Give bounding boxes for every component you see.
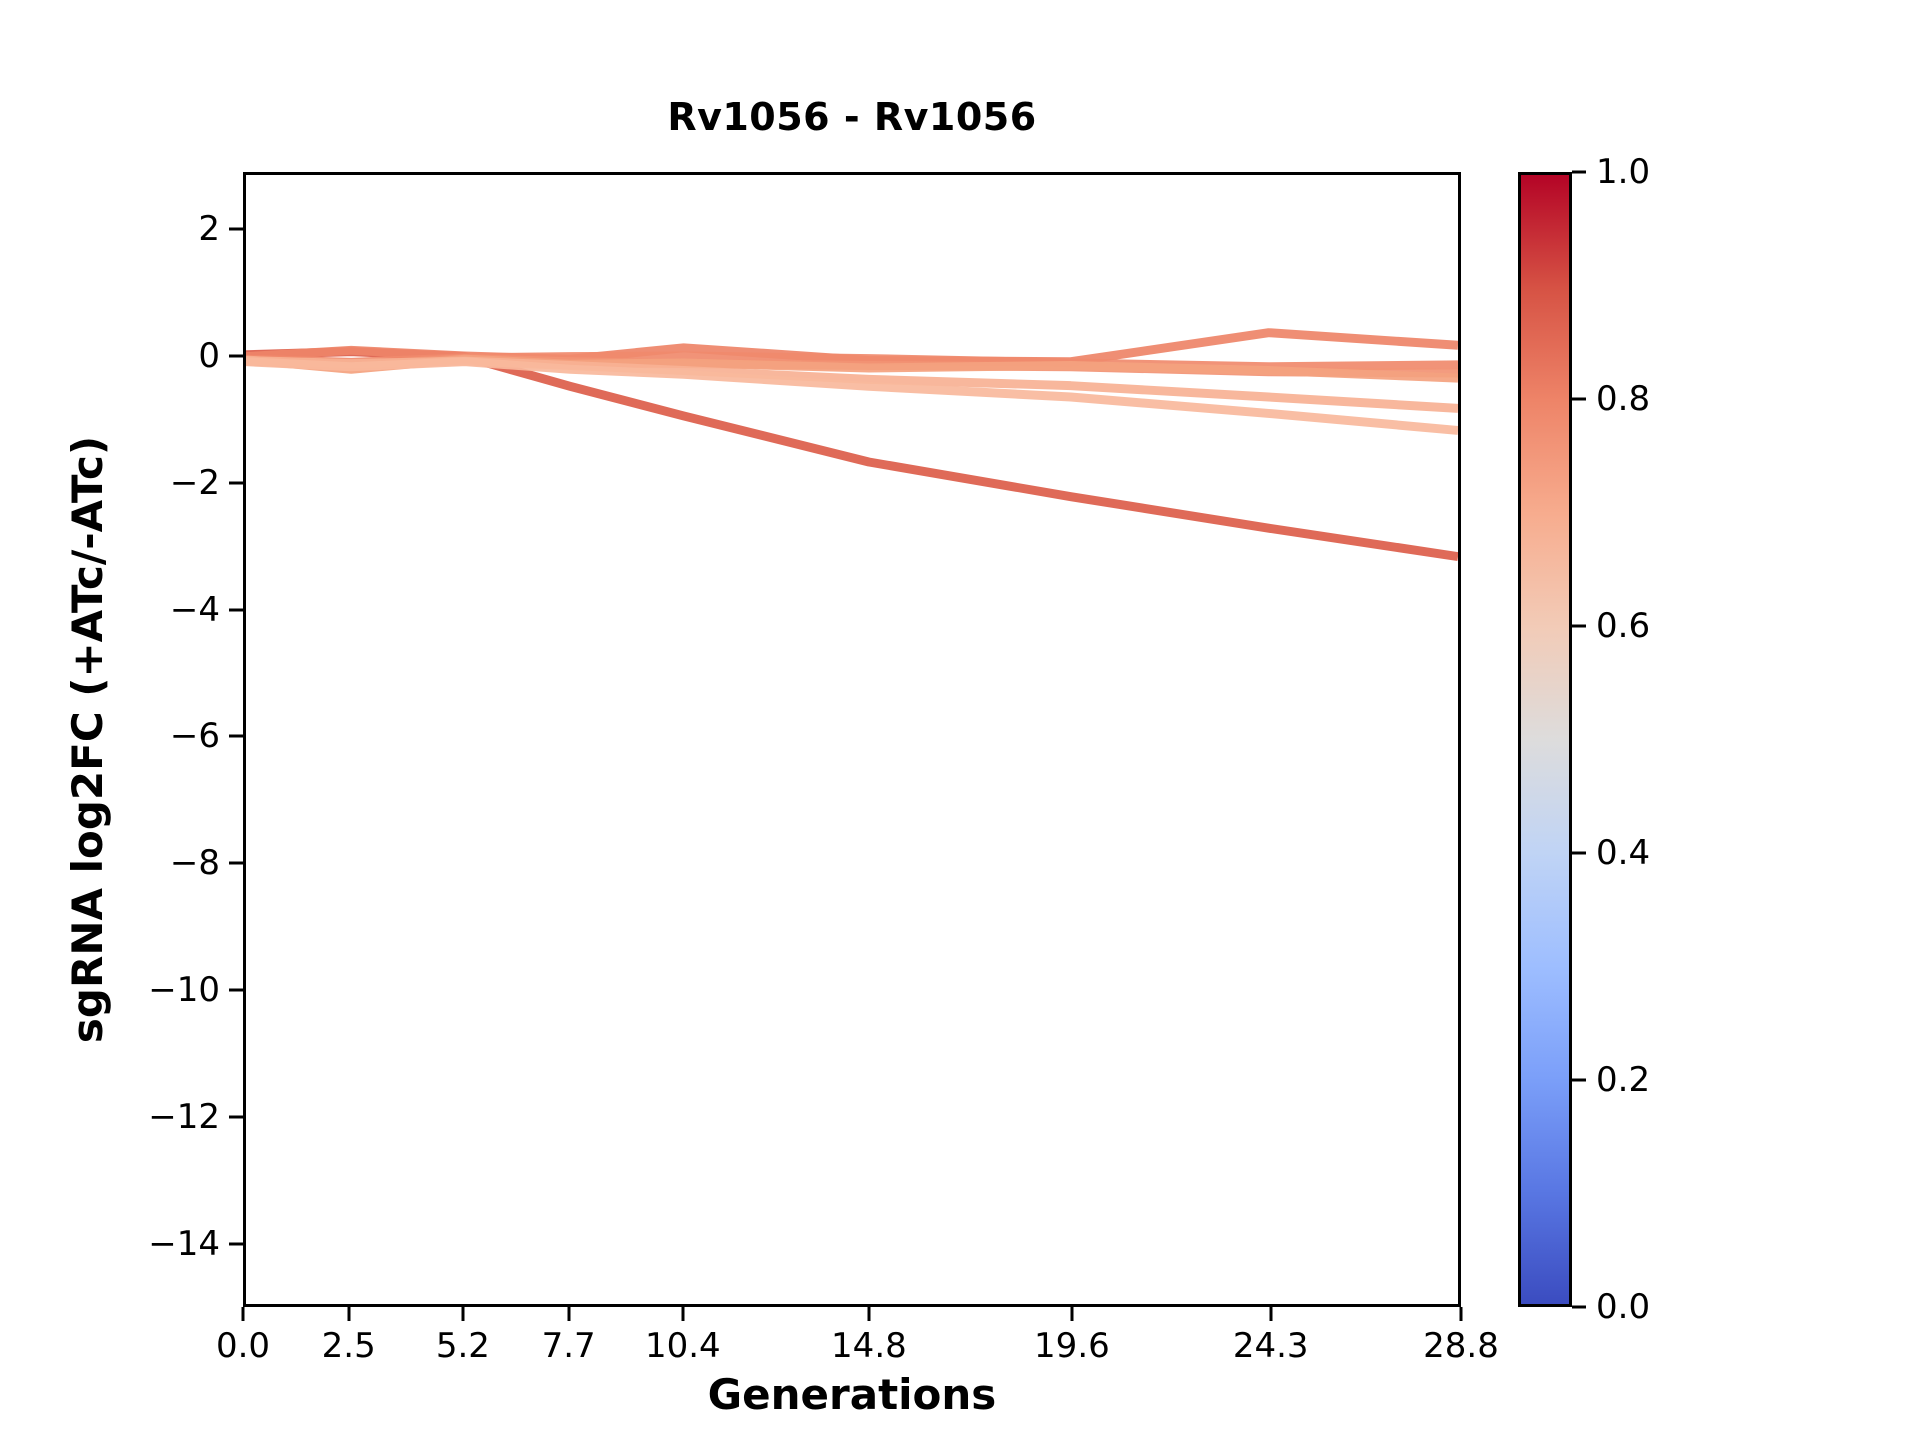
colorbar-tick-label: 0.2	[1596, 1060, 1650, 1100]
x-tick-mark	[681, 1307, 684, 1321]
x-tick-mark	[1460, 1307, 1463, 1321]
colorbar-tick-label: 1.0	[1596, 152, 1650, 192]
y-tick-label: −14	[148, 1224, 220, 1264]
chart-title: Rv1056 - Rv1056	[243, 95, 1461, 139]
y-tick-label: −2	[170, 463, 220, 503]
colorbar[interactable]	[1518, 172, 1572, 1307]
colorbar-tick-mark	[1572, 852, 1586, 855]
x-tick-label: 2.5	[322, 1326, 376, 1366]
x-tick-mark	[567, 1307, 570, 1321]
colorbar-tick-label: 0.4	[1596, 833, 1650, 873]
x-tick-label: 10.4	[645, 1326, 721, 1366]
x-tick-label: 7.7	[542, 1326, 596, 1366]
colorbar-tick-mark	[1572, 625, 1586, 628]
y-tick-mark	[229, 354, 243, 357]
y-tick-label: 2	[198, 209, 220, 249]
colorbar-tick-label: 0.6	[1596, 606, 1650, 646]
y-tick-label: −8	[170, 843, 220, 883]
y-tick-label: −12	[148, 1097, 220, 1137]
x-tick-mark	[242, 1307, 245, 1321]
y-tick-mark	[229, 862, 243, 865]
x-tick-mark	[461, 1307, 464, 1321]
y-tick-label: −4	[170, 590, 220, 630]
x-axis-title: Generations	[243, 1370, 1461, 1419]
y-tick-mark	[229, 1115, 243, 1118]
y-tick-mark	[229, 1242, 243, 1245]
figure-canvas: Rv1056 - Rv1056 sgRNA log2FC (+ATc/-ATc)…	[0, 0, 1920, 1440]
x-tick-label: 5.2	[436, 1326, 490, 1366]
y-axis-tick-labels: 20−2−4−6−8−10−12−14	[100, 0, 220, 1440]
y-tick-label: 0	[198, 336, 220, 376]
y-tick-label: −6	[170, 716, 220, 756]
x-tick-mark	[867, 1307, 870, 1321]
x-tick-label: 0.0	[216, 1326, 270, 1366]
x-tick-mark	[1070, 1307, 1073, 1321]
y-tick-mark	[229, 481, 243, 484]
plot-area	[243, 172, 1461, 1307]
x-tick-label: 28.8	[1423, 1326, 1499, 1366]
x-tick-mark	[347, 1307, 350, 1321]
colorbar-tick-mark	[1572, 398, 1586, 401]
y-tick-mark	[229, 735, 243, 738]
y-tick-mark	[229, 988, 243, 991]
colorbar-tick-mark	[1572, 1079, 1586, 1082]
line-series-svg	[246, 175, 1458, 1304]
y-tick-label: −10	[148, 970, 220, 1010]
y-tick-mark	[229, 228, 243, 231]
colorbar-tick-mark	[1572, 1306, 1586, 1309]
y-tick-mark	[229, 608, 243, 611]
colorbar-tick-mark	[1572, 171, 1586, 174]
x-tick-label: 14.8	[831, 1326, 907, 1366]
colorbar-tick-label: 0.8	[1596, 379, 1650, 419]
colorbar-gradient	[1518, 172, 1572, 1307]
colorbar-tick-label: 0.0	[1596, 1287, 1650, 1327]
x-tick-label: 24.3	[1233, 1326, 1309, 1366]
x-tick-mark	[1269, 1307, 1272, 1321]
x-tick-label: 19.6	[1034, 1326, 1110, 1366]
